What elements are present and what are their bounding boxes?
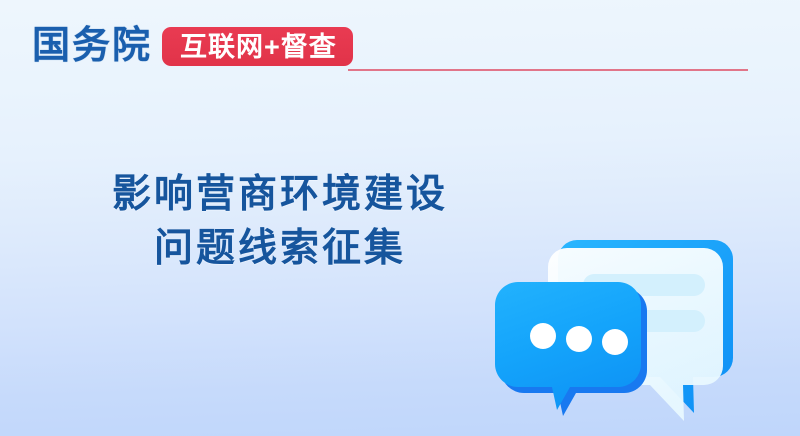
dot-3 xyxy=(602,329,628,355)
dot-1 xyxy=(530,323,556,349)
banner-root: 国务院 互联网+督查 影响营商环境建设 问题线索征集 xyxy=(0,0,800,436)
dot-2 xyxy=(566,326,592,352)
header-divider-line xyxy=(348,69,748,71)
page-title-line-1: 影响营商环境建设 xyxy=(0,168,560,222)
program-badge: 互联网+督查 xyxy=(162,27,353,66)
page-title: 影响营商环境建设 问题线索征集 xyxy=(0,168,560,276)
organization-name: 国务院 xyxy=(32,24,152,68)
chat-bubbles-svg xyxy=(495,218,755,436)
program-badge-label: 互联网+督查 xyxy=(180,32,337,62)
chat-bubbles-illustration xyxy=(495,218,755,436)
page-title-line-2: 问题线索征集 xyxy=(0,222,560,276)
banner-header: 国务院 互联网+督查 xyxy=(0,0,800,100)
